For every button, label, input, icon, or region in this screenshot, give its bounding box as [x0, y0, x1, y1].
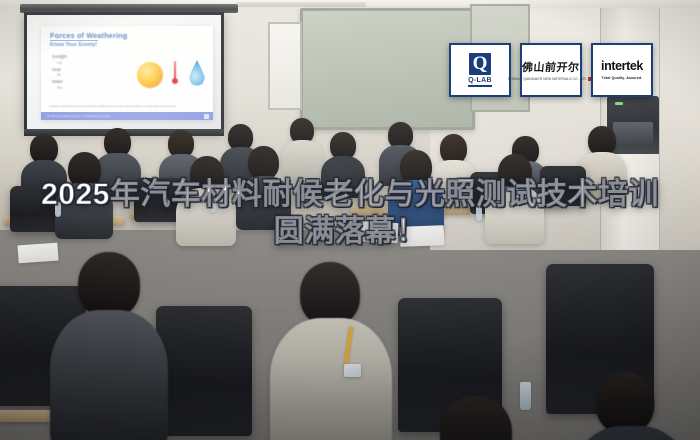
water-bottle	[520, 382, 531, 410]
slide-bullet: RH	[57, 86, 67, 92]
intertek-tagline: Total Quality. Assured.	[602, 76, 643, 80]
audience-seating	[0, 110, 700, 440]
dispenser-led	[615, 102, 623, 105]
training-photo-banner: Forces of Weathering Know Your Enemy! Su…	[0, 0, 700, 440]
slide-bullet-list: Sunlight UV Heat IR Water RH	[52, 54, 67, 92]
presentation-slide: Forces of Weathering Know Your Enemy! Su…	[41, 26, 213, 120]
ceiling-duct	[236, 2, 366, 7]
slide-title: Forces of Weathering	[50, 31, 127, 40]
logo-q-lab: Q Q-LAB	[449, 43, 511, 97]
foshan-subtitle-text: FOSHAN QIANKAIER NEW MATERIALS CO.,LTD	[508, 77, 586, 81]
slide-bullet: Heat	[52, 67, 67, 74]
foshan-subtitle: FOSHAN QIANKAIER NEW MATERIALS CO.,LTD	[508, 77, 594, 81]
handout	[400, 225, 445, 247]
q-lab-mark-icon: Q	[469, 53, 491, 75]
thermometer-bulb	[172, 78, 178, 84]
slide-subtitle: Know Your Enemy!	[50, 42, 97, 48]
intertek-wordmark: intertek	[601, 60, 643, 73]
slide-footnote: Outdoor weathering and accelerated weath…	[49, 104, 205, 108]
sun-icon	[137, 62, 163, 88]
thermometer-icon	[172, 61, 178, 89]
q-lab-wordmark: Q-LAB	[468, 77, 492, 84]
handout	[17, 243, 58, 264]
water-bottle	[476, 206, 482, 221]
foshan-calligraphy-wordmark: 佛山前开尔	[522, 59, 581, 75]
water-bottle	[210, 198, 216, 213]
chair	[156, 306, 252, 436]
name-badge	[344, 364, 361, 377]
slide-bullet: Water	[52, 79, 67, 86]
slide-title-rule	[50, 40, 98, 41]
water-drop-icon	[189, 60, 205, 86]
handout	[352, 221, 399, 243]
q-lab-letter: Q	[473, 54, 488, 73]
logo-intertek: intertek Total Quality. Assured.	[591, 43, 653, 97]
whiteboard-narrow	[268, 22, 302, 110]
slide-bullet: Sunlight	[52, 54, 67, 61]
logo-foshan-qiankaier: 佛山前开尔 FOSHAN QIANKAIER NEW MATERIALS CO.…	[520, 43, 582, 97]
q-lab-underline	[468, 85, 492, 87]
water-bottle	[55, 202, 61, 217]
chair	[540, 166, 586, 206]
water-bottle	[358, 192, 364, 207]
sponsor-logo-row: Q Q-LAB 佛山前开尔 FOSHAN QIANKAIER NEW MATER…	[449, 43, 653, 97]
